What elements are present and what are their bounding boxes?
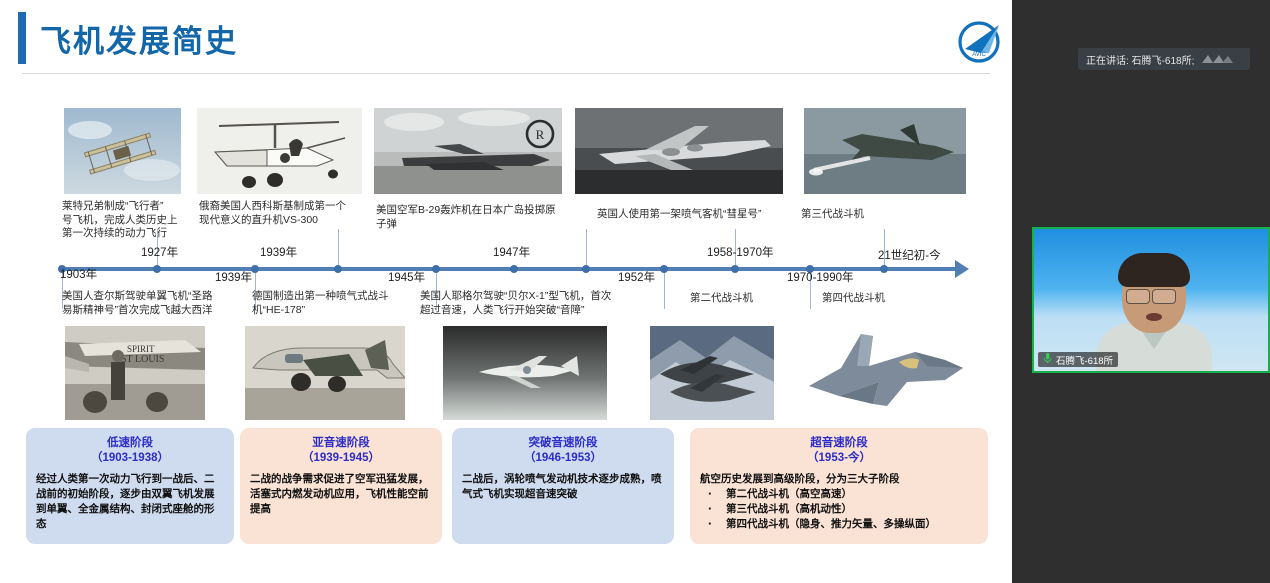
svg-text:ST LOUIS: ST LOUIS bbox=[121, 354, 164, 365]
stage-period: （1903-1938） bbox=[91, 452, 169, 464]
active-speaker-label: 正在讲话: 石腾飞-618所; bbox=[1086, 52, 1194, 67]
photo-wright-flyer bbox=[64, 108, 181, 194]
photo-sr71-blackbird bbox=[650, 326, 774, 420]
active-speaker-indicator: 正在讲话: 石腾飞-618所; bbox=[1078, 48, 1250, 70]
photo-f22-raptor bbox=[795, 326, 975, 420]
timeline-tick bbox=[338, 229, 339, 269]
photo-spirit-of-st-louis: SPIRIT ST LOUIS bbox=[65, 326, 205, 420]
stage-title: 亚音速阶段 （1939-1945） bbox=[250, 436, 432, 466]
timeline-year-above: 1927年 bbox=[141, 244, 178, 260]
timeline-year-below: 1945年 bbox=[388, 269, 425, 285]
caption-bottom-5: 第四代战斗机 bbox=[822, 292, 932, 306]
participant-name-label: 石腾飞-618所 bbox=[1056, 353, 1113, 367]
participant-hair bbox=[1118, 253, 1190, 287]
stage-name: 低速阶段 bbox=[107, 437, 153, 449]
participant-name-tag: 石腾飞-618所 bbox=[1038, 352, 1118, 367]
caption-top-3: 美国空军B-29轰炸机在日本广岛投掷原 子弹 bbox=[376, 204, 576, 231]
stage-card-supersonic: 超音速阶段 （1953-今） 航空历史发展到高级阶段，分为三大子阶段 第二代战斗… bbox=[690, 428, 988, 544]
timeline-year-below: 1970-1990年 bbox=[787, 269, 854, 285]
caption-top-4: 英国人使用第一架喷气客机“彗星号” bbox=[597, 208, 797, 222]
stage-bullet-item: 第四代战斗机（隐身、推力矢量、多操纵面） bbox=[700, 517, 978, 532]
timeline-year-below: 1952年 bbox=[618, 269, 655, 285]
timeline-tick bbox=[664, 269, 665, 309]
stage-bullet-list: 第二代战斗机（高空高速） 第三代战斗机（高机动性） 第四代战斗机（隐身、推力矢量… bbox=[700, 487, 978, 532]
stage-title: 低速阶段 （1903-1938） bbox=[36, 436, 224, 466]
stage-period: （1953-今） bbox=[807, 452, 871, 464]
title-divider bbox=[22, 73, 990, 74]
timeline-year-below: 1903年 bbox=[60, 266, 97, 282]
timeline-year-above: 1947年 bbox=[493, 244, 530, 260]
svg-text:AVIC: AVIC bbox=[972, 52, 986, 58]
stage-period: （1939-1945） bbox=[302, 452, 380, 464]
stage-name: 亚音速阶段 bbox=[312, 437, 370, 449]
caption-top-5: 第三代战斗机 bbox=[801, 208, 911, 222]
photo-he178-jet-fighter bbox=[245, 326, 405, 420]
caption-bottom-1: 美国人查尔斯驾驶单翼飞机“圣路 易斯精神号”首次完成飞越大西洋 bbox=[62, 290, 244, 317]
stage-card-transonic: 突破音速阶段 （1946-1953） 二战后，涡轮喷气发动机技术逐步成熟，喷气式… bbox=[452, 428, 674, 544]
stage-title: 超音速阶段 （1953-今） bbox=[700, 436, 978, 466]
timeline-node bbox=[731, 265, 739, 273]
timeline-tick bbox=[586, 229, 587, 269]
timeline-node bbox=[251, 265, 259, 273]
photo-comet-jet-airliner bbox=[575, 108, 783, 194]
avic-logo-icon: AVIC bbox=[955, 19, 1007, 65]
title-accent-bar bbox=[18, 12, 26, 64]
stage-body: 航空历史发展到高级阶段，分为三大子阶段 bbox=[700, 472, 978, 487]
stage-card-low-speed: 低速阶段 （1903-1938） 经过人类第一次动力飞行到一战后、二战前的初始阶… bbox=[26, 428, 234, 544]
timeline-arrow-icon bbox=[955, 260, 969, 278]
timeline-node bbox=[334, 265, 342, 273]
stage-name: 突破音速阶段 bbox=[529, 437, 598, 449]
photo-third-generation-fighter bbox=[804, 108, 966, 194]
caption-bottom-4: 第二代战斗机 bbox=[690, 292, 800, 306]
slide-title-bar: 飞机发展简史 AVIC bbox=[0, 4, 1012, 72]
svg-text:SPIRIT: SPIRIT bbox=[127, 344, 155, 354]
glasses-left-lens-icon bbox=[1126, 289, 1150, 304]
stage-bullet-item: 第三代战斗机（高机动性） bbox=[700, 502, 978, 517]
glasses-right-lens-icon bbox=[1152, 289, 1176, 304]
stage-body: 二战的战争需求促进了空军迅猛发展，活塞式内燃发动机应用，飞机性能空前提高 bbox=[250, 472, 432, 517]
timeline-node bbox=[432, 265, 440, 273]
timeline-year-below: 1939年 bbox=[215, 269, 252, 285]
stage-period: （1946-1953） bbox=[524, 452, 602, 464]
timeline-year-above: 21世纪初-今 bbox=[878, 247, 941, 263]
timeline-year-above: 1939年 bbox=[260, 244, 297, 260]
timeline-node bbox=[660, 265, 668, 273]
caption-top-1: 莱特兄弟制成“飞行者” 号飞机，完成人类历史上 第一次持续的动力飞行 bbox=[62, 200, 202, 241]
photo-b29-bomber: R bbox=[374, 108, 562, 194]
timeline-node bbox=[582, 265, 590, 273]
caption-bottom-2: 德国制造出第一种喷气式战斗 机“HE-178” bbox=[252, 290, 412, 317]
photo-bell-x1 bbox=[443, 326, 607, 420]
stage-bullet-item: 第二代战斗机（高空高速） bbox=[700, 487, 978, 502]
timeline-node bbox=[880, 265, 888, 273]
timeline-year-above: 1958-1970年 bbox=[707, 244, 774, 260]
stage-body: 二战后，涡轮喷气发动机技术逐步成熟，喷气式飞机实现超音速突破 bbox=[462, 472, 664, 502]
caption-bottom-3: 美国人耶格尔驾驶“贝尔X-1”型飞机，首次 超过音速，人类飞行开始突破“音障” bbox=[420, 290, 652, 317]
photo-sikorsky-vs300 bbox=[197, 108, 362, 194]
presentation-slide: 飞机发展简史 AVIC bbox=[0, 4, 1012, 566]
svg-text:R: R bbox=[536, 127, 545, 142]
participant-mouth bbox=[1146, 313, 1162, 321]
stage-body: 经过人类第一次动力飞行到一战后、二战前的初始阶段，逐步由双翼飞机发展到单翼、全金… bbox=[36, 472, 224, 532]
screen-share-area: 飞机发展简史 AVIC bbox=[0, 0, 1012, 583]
audio-wave-icon bbox=[1200, 52, 1234, 66]
microphone-icon bbox=[1043, 351, 1052, 369]
stage-title: 突破音速阶段 （1946-1953） bbox=[462, 436, 664, 466]
timeline-node bbox=[510, 265, 518, 273]
stage-name: 超音速阶段 bbox=[810, 437, 868, 449]
stage-card-subsonic: 亚音速阶段 （1939-1945） 二战的战争需求促进了空军迅猛发展，活塞式内燃… bbox=[240, 428, 442, 544]
timeline-node bbox=[153, 265, 161, 273]
page-title: 飞机发展简史 bbox=[40, 16, 238, 61]
caption-top-2: 俄裔美国人西科斯基制成第一个 现代意义的直升机VS-300 bbox=[199, 200, 371, 227]
participant-video-tile[interactable]: 石腾飞-618所 bbox=[1032, 227, 1270, 373]
